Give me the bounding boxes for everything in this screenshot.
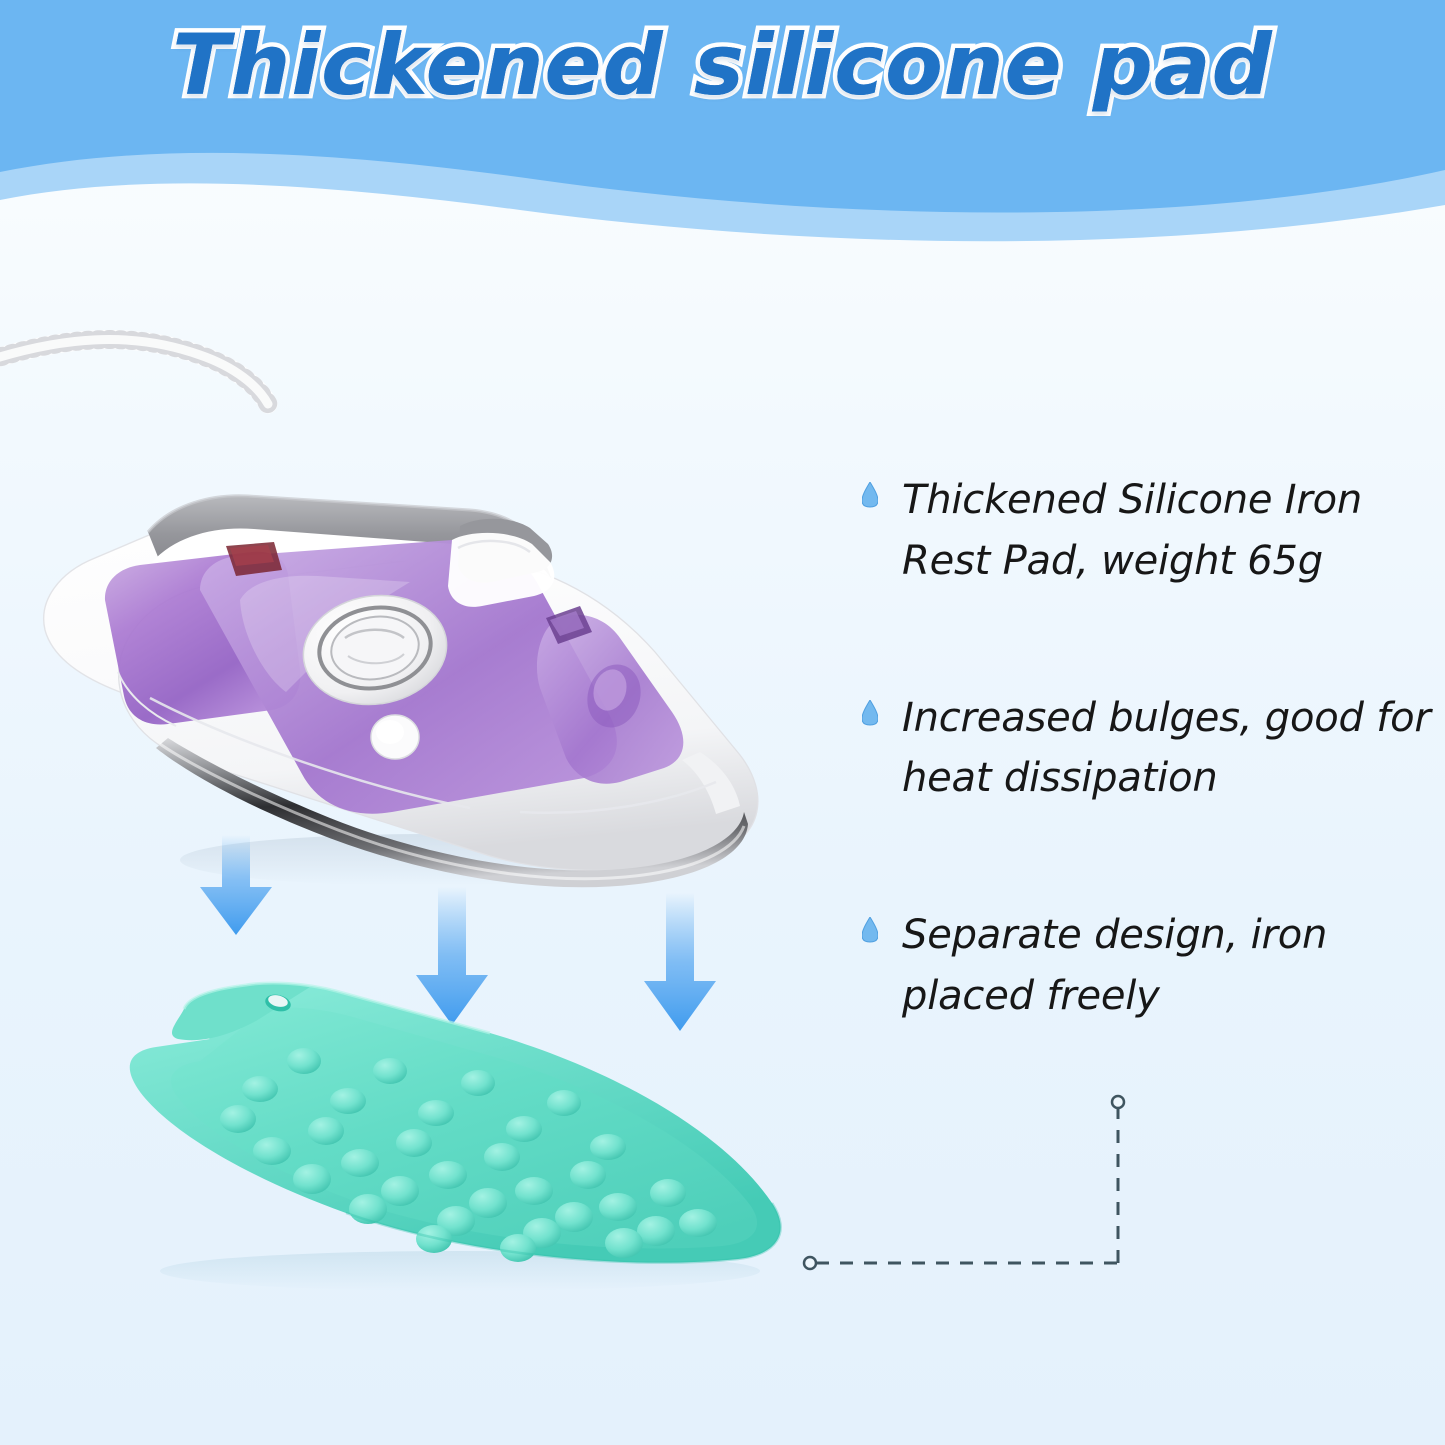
down-arrow-1 (200, 835, 272, 935)
feature-text: Increased bulges, good for heat dissipat… (902, 688, 1432, 810)
feature-item-2: Increased bulges, good for heat dissipat… (862, 688, 1432, 810)
silicone-pad-image (60, 955, 860, 1305)
feature-item-1: Thickened Silicone Iron Rest Pad, weight… (862, 470, 1432, 592)
iron-drop-bullet-icon (862, 700, 878, 726)
feature-text: Separate design, iron placed freely (902, 905, 1432, 1027)
feature-list: Thickened Silicone Iron Rest Pad, weight… (862, 470, 1432, 1027)
callout-endpoint-left (804, 1257, 816, 1269)
iron-drop-bullet-icon (862, 917, 878, 943)
steam-iron-image (0, 300, 800, 910)
power-cord (0, 340, 268, 404)
measurement-callout (770, 1080, 1190, 1310)
callout-endpoint-top (1112, 1096, 1124, 1108)
feature-text: Thickened Silicone Iron Rest Pad, weight… (902, 470, 1432, 592)
page-title: Thickened silicone pad (0, 16, 1445, 114)
feature-item-3: Separate design, iron placed freely (862, 905, 1432, 1027)
iron-drop-bullet-icon (862, 482, 878, 508)
product-infographic: Thickened silicone pad Thickened silicon… (0, 0, 1445, 1445)
